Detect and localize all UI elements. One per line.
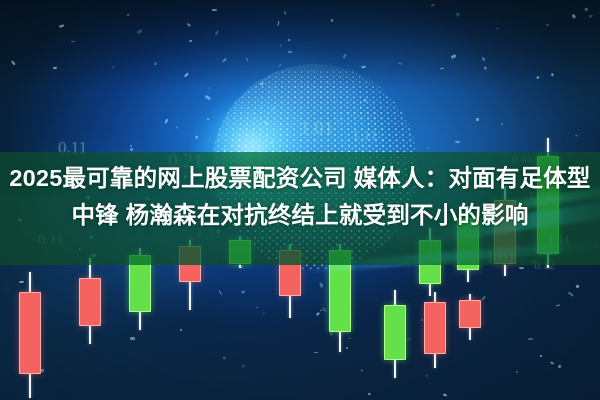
floating-number: 1.01 [300,118,333,140]
floating-number: 1.11 [352,128,378,145]
headline-text: 2025最可靠的网上股票配资公司 媒体人：对面有足体型中锋 杨瀚森在对抗终结上就… [0,160,600,234]
banner-image: 0.110.211.011.110.120.411.010.111.110.11… [0,0,600,400]
